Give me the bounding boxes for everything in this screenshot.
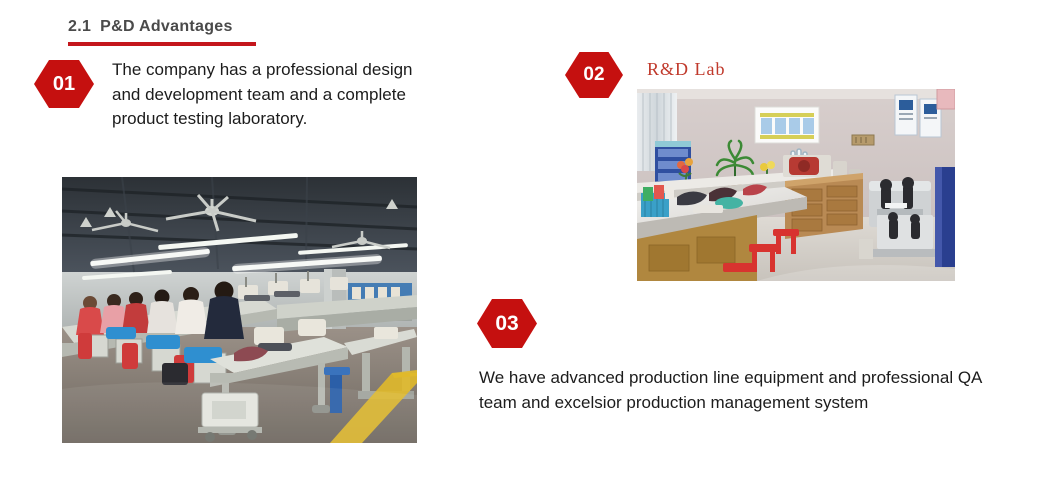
section-title: P&D Advantages <box>100 18 233 35</box>
badge-label-03: 03 <box>495 312 518 336</box>
page-title: 2.1P&D Advantages <box>68 18 233 36</box>
rd-lab-caption: R&D Lab <box>647 59 726 80</box>
badge-hexagon-02: 02 <box>565 52 623 98</box>
point-01-text: The company has a professional design an… <box>112 58 424 132</box>
badge-hexagon-01: 01 <box>34 60 94 108</box>
heading-underline-rule <box>68 42 256 46</box>
slide-canvas: 2.1P&D Advantages 01 The company has a p… <box>0 0 1060 504</box>
section-number: 2.1 <box>68 18 91 35</box>
lab-illustration <box>637 89 955 281</box>
point-03-text: We have advanced production line equipme… <box>479 366 1019 415</box>
photo-factory-production-floor <box>62 177 417 443</box>
badge-label-01: 01 <box>53 73 75 96</box>
photo-rd-lab <box>637 89 955 281</box>
factory-illustration <box>62 177 417 443</box>
badge-hexagon-03: 03 <box>477 299 537 348</box>
badge-label-02: 02 <box>583 64 604 86</box>
